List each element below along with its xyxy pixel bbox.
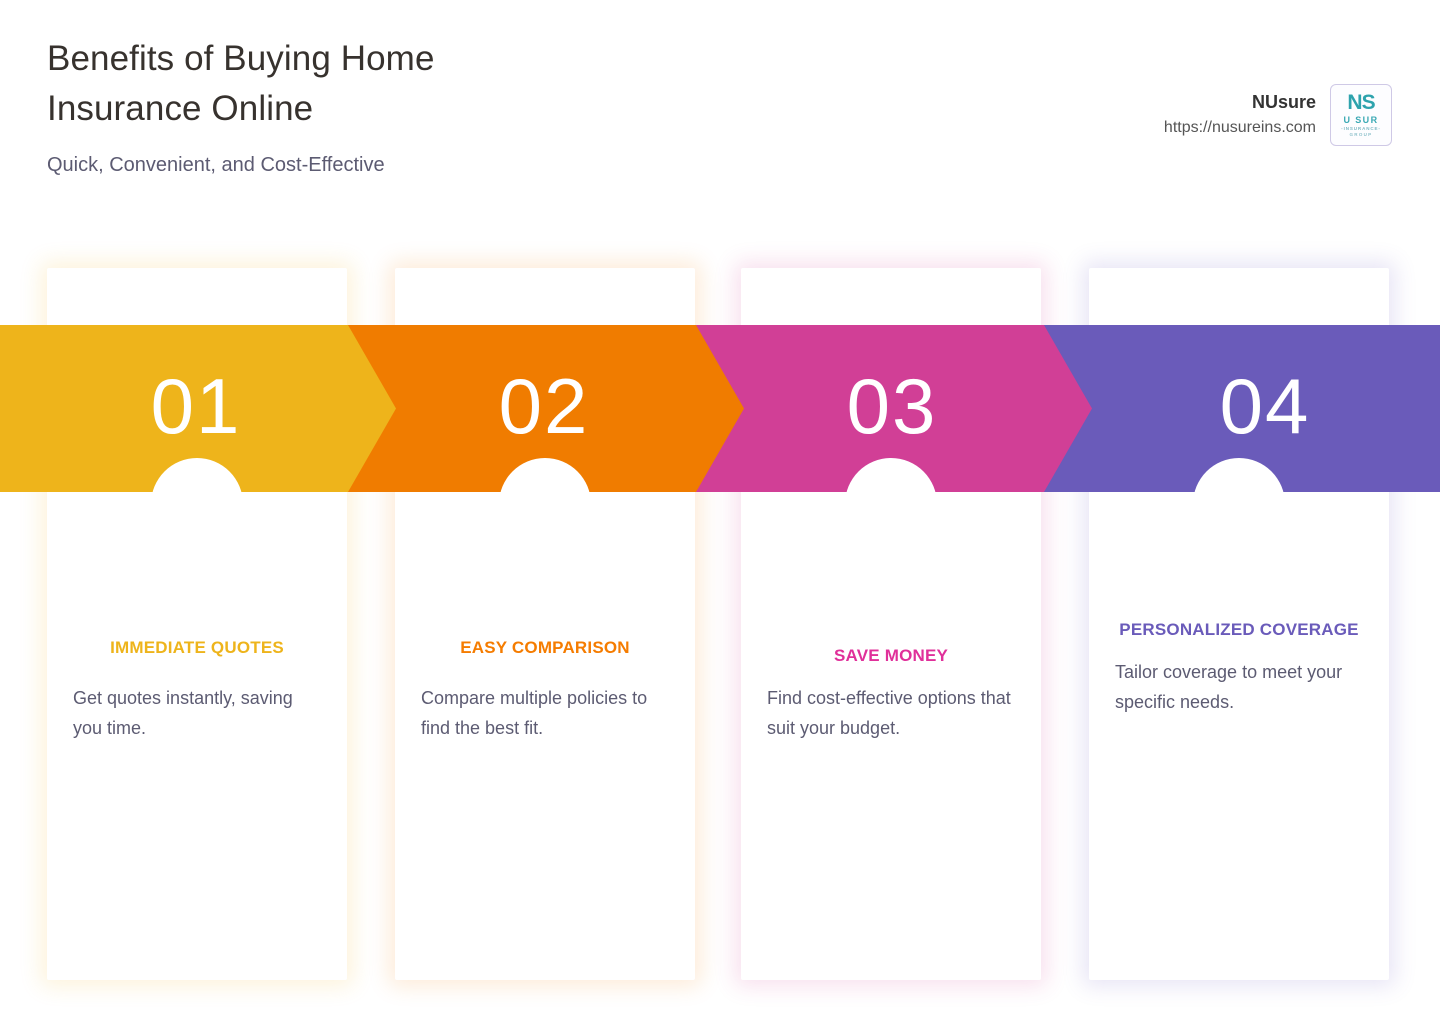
step-card-2-text: Compare multiple policies to find the be… — [421, 683, 669, 743]
icon-notch-2 — [499, 458, 591, 550]
page-subtitle: Quick, Convenient, and Cost-Effective — [47, 150, 847, 180]
brand-url[interactable]: https://nusureins.com — [1164, 116, 1316, 140]
title-block: Benefits of Buying Home Insurance Online… — [47, 34, 847, 180]
step-card-2-heading: EASY COMPARISON — [411, 634, 679, 662]
logo-usur-text: U SUR — [1343, 115, 1378, 126]
step-card-3-text: Find cost-effective options that suit yo… — [767, 683, 1015, 743]
icon-notch-4 — [1193, 458, 1285, 550]
icon-notch-1 — [151, 458, 243, 550]
brand-name: NUsure — [1164, 90, 1316, 114]
brand-block: NUsure https://nusureins.com NS U SUR -I… — [1164, 84, 1392, 146]
page-header: Benefits of Buying Home Insurance Online… — [0, 0, 1440, 250]
brand-text: NUsure https://nusureins.com — [1164, 90, 1316, 140]
step-card-4-heading: PERSONALIZED COVERAGE — [1105, 616, 1373, 644]
step-card-3-heading: SAVE MONEY — [757, 642, 1025, 670]
step-card-4-text: Tailor coverage to meet your specific ne… — [1115, 657, 1363, 717]
brand-logo-icon: NS U SUR -INSURANCE- GROUP — [1330, 84, 1392, 146]
icon-notch-3 — [845, 458, 937, 550]
logo-group-text: GROUP — [1349, 132, 1372, 138]
step-card-1-text: Get quotes instantly, saving you time. — [73, 683, 321, 743]
step-card-1-heading: IMMEDIATE QUOTES — [63, 634, 331, 662]
page-title: Benefits of Buying Home Insurance Online — [47, 34, 847, 134]
logo-monogram: NS — [1347, 92, 1374, 114]
